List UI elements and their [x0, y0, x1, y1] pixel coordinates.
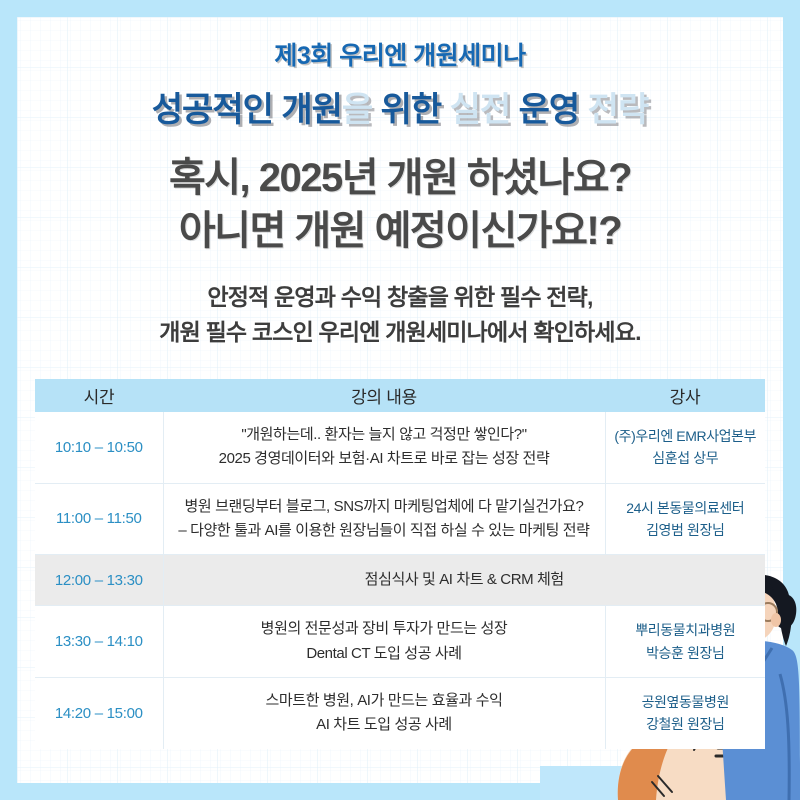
- speaker-line-1: 24시 본동물의료센터: [610, 497, 762, 519]
- cell-speaker: 24시 본동물의료센터김영범 원장님: [605, 483, 765, 555]
- content-line-1: 병원 브랜딩부터 블로그, SNS까지 마케팅업체에 다 맡기실건가요?: [168, 495, 601, 519]
- content-line-1: 병원의 전문성과 장비 투자가 만드는 성장: [168, 617, 601, 641]
- cell-speaker: (주)우리엔 EMR사업본부심훈섭 상무: [605, 412, 765, 483]
- cell-content: 스마트한 병원, AI가 만드는 효율과 수익AI 차트 도입 성공 사례: [163, 678, 605, 749]
- table-header-row: 시간 강의 내용 강사: [35, 379, 765, 412]
- subtitle-segment: 개원: [281, 91, 342, 129]
- speaker-line-2: 강철원 원장님: [610, 713, 762, 735]
- subtitle-segment: 을: [342, 91, 381, 129]
- poster-subtitle: 성공적인 개원을 위한 실전 운영 전략: [0, 82, 800, 131]
- cell-content: 병원 브랜딩부터 블로그, SNS까지 마케팅업체에 다 맡기실건가요?– 다양…: [163, 483, 605, 555]
- cell-time: 11:00 – 11:50: [35, 483, 163, 555]
- headline-line-2: 아니면 개원 예정이신가요!?: [0, 205, 800, 258]
- schedule-table-head: 시간 강의 내용 강사: [35, 379, 765, 412]
- page-title: 혹시, 2025년 개원 하셨나요? 아니면 개원 예정이신가요!?: [0, 152, 800, 258]
- content-line-1: 점심식사 및 AI 차트 & CRM 체험: [168, 568, 762, 592]
- speaker-line-1: 공원옆동물병원: [610, 691, 762, 713]
- speaker-line-1: (주)우리엔 EMR사업본부: [610, 425, 762, 447]
- column-header-content: 강의 내용: [163, 379, 605, 412]
- cell-time: 10:10 – 10:50: [35, 412, 163, 483]
- content-line-1: "개원하는데.. 환자는 늘지 않고 걱정만 쌓인다?": [168, 423, 601, 447]
- speaker-line-1: 뿌리동물치과병원: [610, 619, 762, 641]
- table-row: 13:30 – 14:10병원의 전문성과 장비 투자가 만드는 성장Denta…: [35, 606, 765, 678]
- schedule-table-body: 10:10 – 10:50"개원하는데.. 환자는 늘지 않고 걱정만 쌓인다?…: [35, 412, 765, 749]
- lede-line-2: 개원 필수 코스인 우리엔 개원세미나에서 확인하세요.: [0, 315, 800, 350]
- subtitle-segment: 성공적인: [152, 91, 282, 129]
- cell-content: "개원하는데.. 환자는 늘지 않고 걱정만 쌓인다?"2025 경영데이터와 …: [163, 412, 605, 483]
- table-row: 14:20 – 15:00스마트한 병원, AI가 만드는 효율과 수익AI 차…: [35, 678, 765, 749]
- cell-time: 13:30 – 14:10: [35, 606, 163, 678]
- subtitle-segment: 전략: [579, 91, 648, 129]
- subtitle-segment: 실전: [441, 91, 518, 129]
- column-header-speaker: 강사: [605, 379, 765, 412]
- headline-line-1: 혹시, 2025년 개원 하셨나요?: [0, 152, 800, 205]
- speaker-line-2: 박승훈 원장님: [610, 642, 762, 664]
- cell-speaker: 뿌리동물치과병원박승훈 원장님: [605, 606, 765, 678]
- schedule-table: 시간 강의 내용 강사 10:10 – 10:50"개원하는데.. 환자는 늘지…: [35, 379, 765, 749]
- content-line-1: 스마트한 병원, AI가 만드는 효율과 수익: [168, 689, 601, 713]
- cell-time: 14:20 – 15:00: [35, 678, 163, 749]
- cell-speaker: 공원옆동물병원강철원 원장님: [605, 678, 765, 749]
- content-line-2: – 다양한 툴과 AI를 이용한 원장님들이 직접 하실 수 있는 마케팅 전략: [168, 519, 601, 543]
- speaker-line-2: 김영범 원장님: [610, 519, 762, 541]
- table-row: 11:00 – 11:50병원 브랜딩부터 블로그, SNS까지 마케팅업체에 …: [35, 483, 765, 555]
- lede-line-1: 안정적 운영과 수익 창출을 위한 필수 전략,: [0, 280, 800, 315]
- cell-time: 12:00 – 13:30: [35, 555, 163, 606]
- schedule-section: 시간 강의 내용 강사 10:10 – 10:50"개원하는데.. 환자는 늘지…: [35, 379, 765, 749]
- subtitle-segment: 운영: [519, 91, 580, 129]
- column-header-time: 시간: [35, 379, 163, 412]
- cell-content: 점심식사 및 AI 차트 & CRM 체험: [163, 555, 765, 606]
- content-line-2: AI 차트 도입 성공 사례: [168, 713, 601, 737]
- content-line-2: 2025 경영데이터와 보험·AI 차트로 바로 잡는 성장 전략: [168, 447, 601, 471]
- poster-description: 안정적 운영과 수익 창출을 위한 필수 전략, 개원 필수 코스인 우리엔 개…: [0, 280, 800, 350]
- table-row: 10:10 – 10:50"개원하는데.. 환자는 늘지 않고 걱정만 쌓인다?…: [35, 412, 765, 483]
- poster-canvas: 제3회 우리엔 개원세미나 성공적인 개원을 위한 실전 운영 전략 혹시, 2…: [0, 0, 800, 800]
- subtitle-segment: 위한: [381, 91, 442, 129]
- speaker-line-2: 심훈섭 상무: [610, 447, 762, 469]
- content-line-2: Dental CT 도입 성공 사례: [168, 642, 601, 666]
- eyebrow-title: 제3회 우리엔 개원세미나: [0, 36, 800, 72]
- table-row: 12:00 – 13:30점심식사 및 AI 차트 & CRM 체험: [35, 555, 765, 606]
- cell-content: 병원의 전문성과 장비 투자가 만드는 성장Dental CT 도입 성공 사례: [163, 606, 605, 678]
